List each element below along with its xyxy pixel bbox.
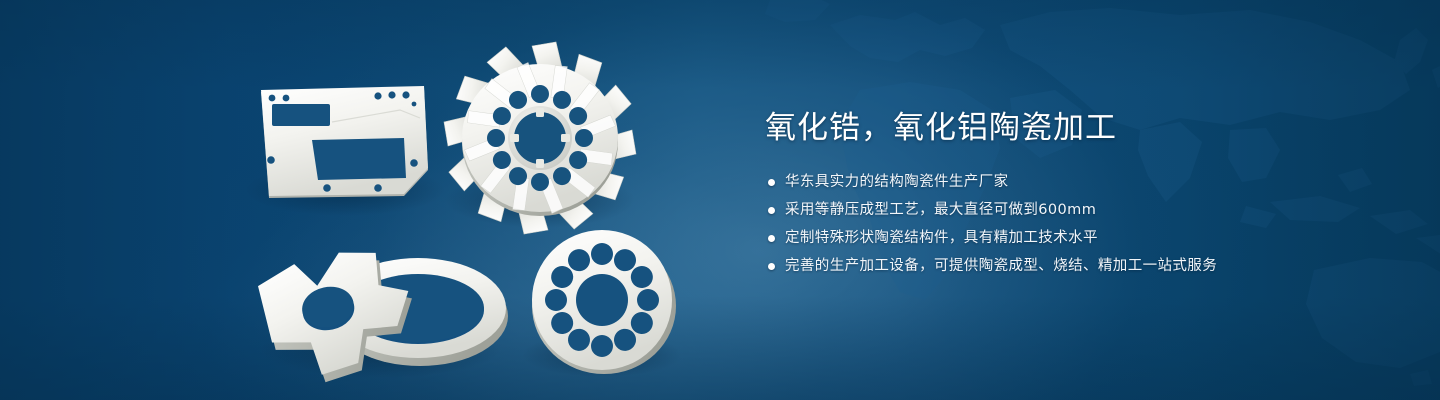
feature-list: 华东具实力的结构陶瓷件生产厂家 采用等静压成型工艺，最大直径可做到600mm 定…: [768, 172, 1385, 276]
list-item: 定制特殊形状陶瓷结构件，具有精加工技术水平: [768, 228, 1385, 248]
promo-banner: 氧化锆，氧化铝陶瓷加工 华东具实力的结构陶瓷件生产厂家 采用等静压成型工艺，最大…: [0, 0, 1440, 400]
list-item: 华东具实力的结构陶瓷件生产厂家: [768, 172, 1385, 192]
bullet-dot-icon: [768, 179, 775, 186]
ceramic-mounting-plate: [261, 86, 428, 198]
feature-text: 定制特殊形状陶瓷结构件，具有精加工技术水平: [785, 228, 1098, 248]
feature-text: 华东具实力的结构陶瓷件生产厂家: [785, 172, 1009, 192]
ceramic-perforated-disc: [532, 230, 676, 374]
list-item: 采用等静压成型工艺，最大直径可做到600mm: [768, 200, 1385, 220]
ceramic-products-image: [0, 0, 760, 400]
bullet-dot-icon: [768, 235, 775, 242]
feature-text: 完善的生产加工设备，可提供陶瓷成型、烧结、精加工一站式服务: [785, 256, 1217, 276]
page-title: 氧化锆，氧化铝陶瓷加工: [765, 108, 1385, 148]
bullet-dot-icon: [768, 207, 775, 214]
list-item: 完善的生产加工设备，可提供陶瓷成型、烧结、精加工一站式服务: [768, 256, 1385, 276]
feature-text: 采用等静压成型工艺，最大直径可做到600mm: [785, 200, 1096, 220]
banner-copy: 氧化锆，氧化铝陶瓷加工 华东具实力的结构陶瓷件生产厂家 采用等静压成型工艺，最大…: [765, 108, 1385, 284]
bullet-dot-icon: [768, 263, 775, 270]
